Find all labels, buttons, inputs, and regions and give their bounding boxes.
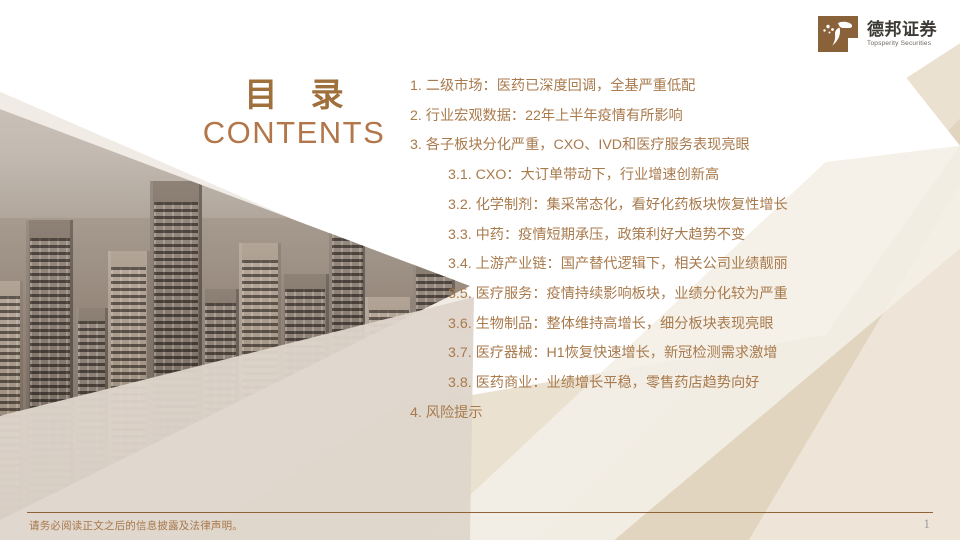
toc-item[interactable]: 3.4. 上游产业链：国产替代逻辑下，相关公司业绩靓丽: [410, 257, 880, 271]
toc-item[interactable]: 4. 风险提示: [410, 406, 880, 420]
toc-item[interactable]: 3.7. 医疗器械：H1恢复快速增长，新冠检测需求激增: [410, 346, 880, 360]
page-title-cn: 目 录: [186, 78, 402, 111]
logo-name-cn: 德邦证券: [867, 21, 937, 38]
table-of-contents: 1. 二级市场：医药已深度回调，全基严重低配 2. 行业宏观数据：22年上半年疫…: [410, 79, 880, 435]
page-number: 1: [924, 516, 931, 532]
company-logo: 德邦证券 Topsperity Securities: [818, 16, 937, 52]
tiger-mark-icon: [818, 16, 858, 52]
toc-item[interactable]: 3.5. 医疗服务：疫情持续影响板块，业绩分化较为严重: [410, 287, 880, 301]
toc-item[interactable]: 3.1. CXO：大订单带动下，行业增速创新高: [410, 168, 880, 182]
toc-item[interactable]: 3.6. 生物制品：整体维持高增长，细分板块表现亮眼: [410, 317, 880, 331]
slide-root: 德邦证券 Topsperity Securities 目 录 CONTENTS …: [0, 0, 960, 540]
footer-divider: [27, 512, 933, 513]
logo-name-en: Topsperity Securities: [867, 41, 937, 48]
toc-item[interactable]: 3.3. 中药：疫情短期承压，政策利好大趋势不变: [410, 228, 880, 242]
page-title-en: CONTENTS: [186, 117, 402, 148]
toc-item[interactable]: 3. 各子板块分化严重，CXO、IVD和医疗服务表现亮眼: [410, 138, 880, 152]
toc-item[interactable]: 3.2. 化学制剂：集采常态化，看好化药板块恢复性增长: [410, 198, 880, 212]
toc-item[interactable]: 1. 二级市场：医药已深度回调，全基严重低配: [410, 79, 880, 93]
toc-item[interactable]: 3.8. 医药商业：业绩增长平稳，零售药店趋势向好: [410, 376, 880, 390]
footer-disclaimer: 请务必阅读正文之后的信息披露及法律声明。: [29, 518, 243, 533]
toc-item[interactable]: 2. 行业宏观数据：22年上半年疫情有所影响: [410, 109, 880, 123]
page-title: 目 录 CONTENTS: [186, 78, 402, 148]
